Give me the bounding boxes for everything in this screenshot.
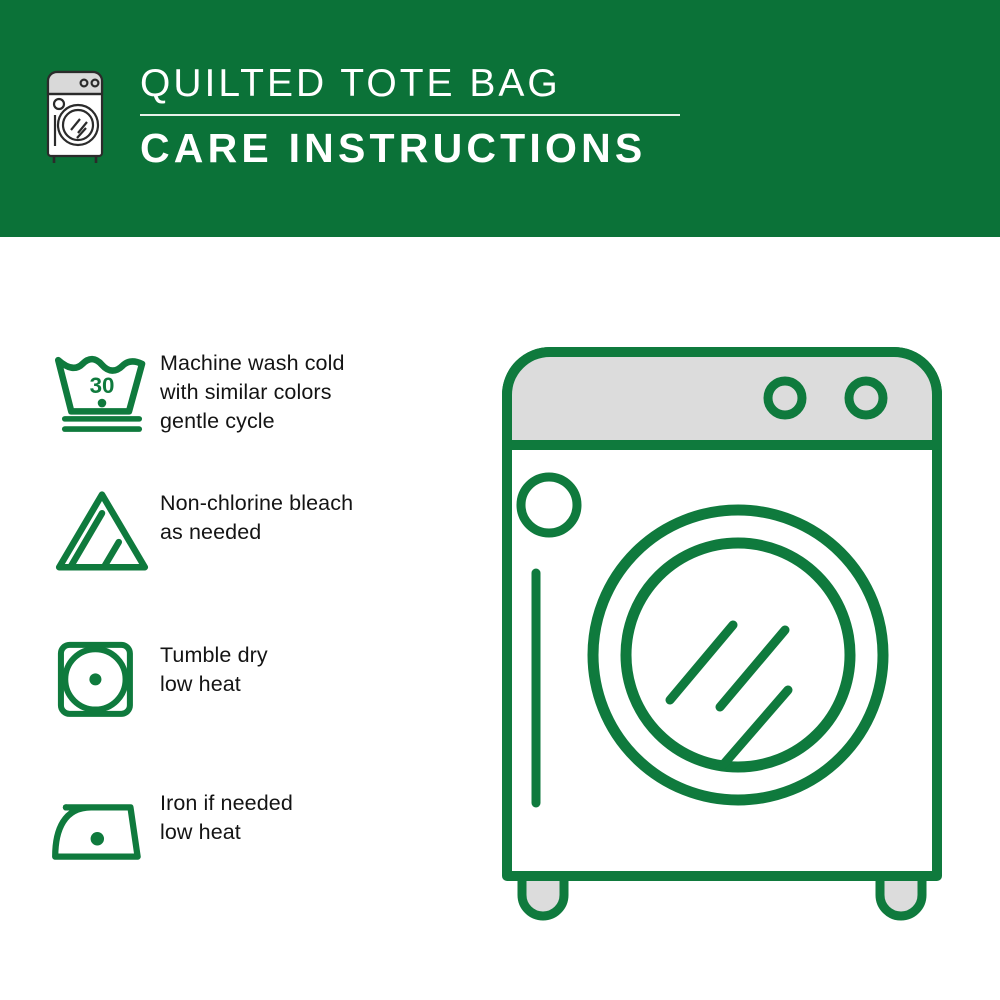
wash-dot bbox=[98, 399, 107, 408]
care-text-line: low heat bbox=[160, 670, 268, 699]
washing-machine-illustration bbox=[480, 325, 980, 935]
product-title: QUILTED TOTE BAG bbox=[140, 62, 680, 106]
care-text-line: low heat bbox=[160, 818, 293, 847]
care-instructions-infographic: QUILTED TOTE BAG CARE INSTRUCTIONS 30 bbox=[0, 0, 1000, 1000]
care-text-line: Machine wash cold bbox=[160, 349, 345, 378]
tumble-dry-dot bbox=[89, 673, 101, 685]
wash-temperature-value: 30 bbox=[90, 373, 115, 398]
care-text-line: as needed bbox=[160, 518, 353, 547]
care-text-line: with similar colors bbox=[160, 378, 345, 407]
title-divider bbox=[140, 114, 680, 116]
washing-machine-icon bbox=[44, 62, 106, 166]
wash-tub-icon: 30 bbox=[48, 345, 160, 435]
tumble-dry-icon bbox=[48, 637, 160, 720]
care-text-line: Iron if needed bbox=[160, 789, 293, 818]
care-text-line: Tumble dry bbox=[160, 641, 268, 670]
care-text-dry: Tumble dry low heat bbox=[160, 637, 268, 699]
header-content: QUILTED TOTE BAG CARE INSTRUCTIONS bbox=[44, 62, 680, 171]
bleach-stripe-2 bbox=[104, 542, 119, 567]
iron-icon bbox=[48, 785, 160, 871]
page-title: CARE INSTRUCTIONS bbox=[140, 125, 680, 171]
header-banner: QUILTED TOTE BAG CARE INSTRUCTIONS bbox=[0, 0, 1000, 237]
care-text-bleach: Non-chlorine bleach as needed bbox=[160, 485, 353, 547]
bleach-triangle-icon bbox=[48, 485, 160, 575]
care-text-line: Non-chlorine bleach bbox=[160, 489, 353, 518]
header-titles: QUILTED TOTE BAG CARE INSTRUCTIONS bbox=[140, 62, 680, 171]
care-text-wash: Machine wash cold with similar colors ge… bbox=[160, 345, 345, 436]
care-row-wash: 30 Machine wash cold with similar colors… bbox=[48, 345, 345, 436]
iron-heat-dot bbox=[91, 832, 104, 845]
care-instruction-list: 30 Machine wash cold with similar colors… bbox=[0, 237, 470, 1000]
care-text-iron: Iron if needed low heat bbox=[160, 785, 293, 847]
care-row-iron: Iron if needed low heat bbox=[48, 785, 293, 871]
care-text-line: gentle cycle bbox=[160, 407, 345, 436]
care-row-bleach: Non-chlorine bleach as needed bbox=[48, 485, 353, 575]
care-row-dry: Tumble dry low heat bbox=[48, 637, 268, 720]
control-panel-fill bbox=[507, 352, 937, 445]
